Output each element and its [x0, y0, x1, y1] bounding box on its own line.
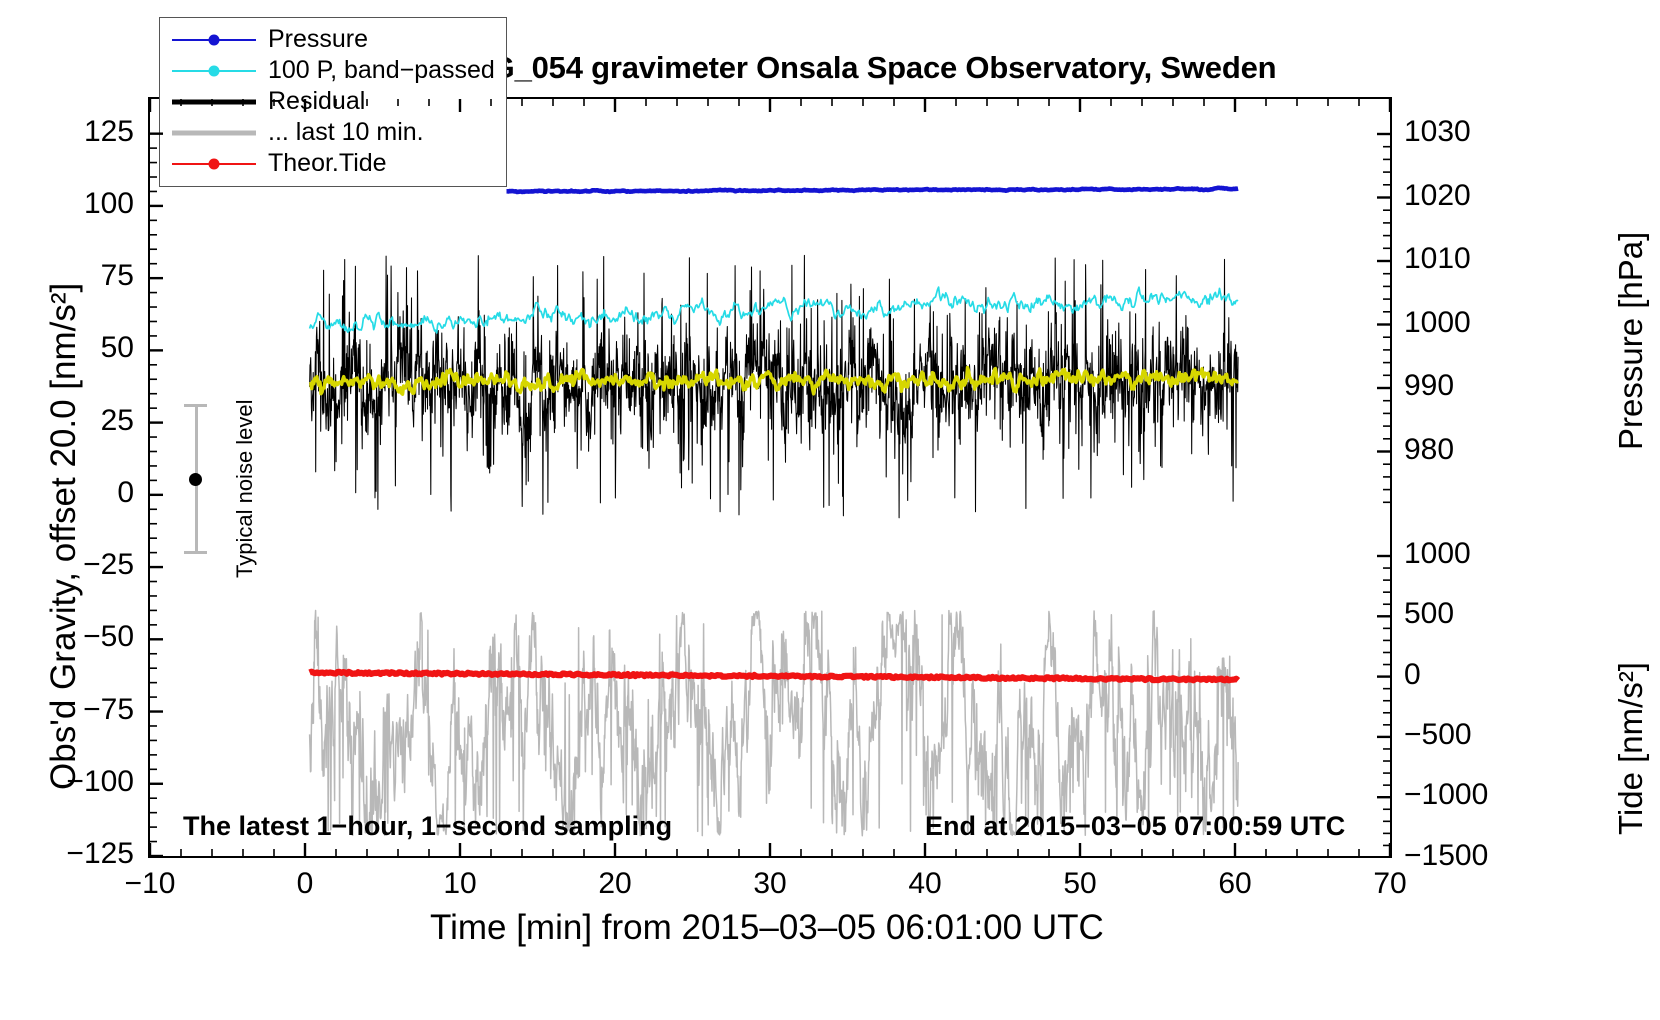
y-axis-title-right-pressure: Pressure [hPa] [1612, 232, 1650, 450]
legend-label-4: Theor.Tide [260, 151, 387, 176]
plot-area [148, 97, 1392, 858]
y-tick-tide-5: −1500 [1404, 839, 1524, 873]
legend-label-2: Residual [260, 89, 365, 114]
x-tick-4: 30 [710, 867, 830, 901]
y-tick-pressure-0: 1030 [1404, 115, 1524, 149]
legend-line-icon [172, 130, 256, 135]
y-tick-tide-0: 1000 [1404, 537, 1524, 571]
legend-line-icon [172, 99, 256, 104]
x-tick-5: 40 [865, 867, 985, 901]
y-tick-tide-1: 500 [1404, 597, 1524, 631]
y-tick-pressure-5: 980 [1404, 433, 1524, 467]
legend-item-4[interactable]: Theor.Tide [168, 148, 498, 179]
x-tick-0: −10 [90, 867, 210, 901]
y-tick-pressure-3: 1000 [1404, 306, 1524, 340]
y-tick-left-0: 125 [14, 115, 134, 149]
series-pressure [507, 188, 1239, 192]
legend-label-0: Pressure [260, 27, 368, 52]
series-last-10-min [310, 611, 1239, 836]
typical-noise-level-label: Typical noise level [232, 399, 258, 578]
y-tick-pressure-2: 1010 [1404, 242, 1524, 276]
legend-swatch-3 [168, 117, 260, 148]
y-axis-title-left: Obs'd Gravity, offset 20.0 [nm/s²] [44, 283, 84, 790]
legend-dot-icon [209, 158, 220, 169]
legend-swatch-1 [168, 55, 260, 86]
legend-swatch-0 [168, 24, 260, 55]
legend-item-2[interactable]: Residual [168, 86, 498, 117]
legend-item-3[interactable]: ... last 10 min. [168, 117, 498, 148]
y-axis-title-right-tide: Tide [nm/s²] [1612, 662, 1650, 835]
legend-item-1[interactable]: 100 P, band−passed [168, 55, 498, 86]
x-tick-1: 0 [245, 867, 365, 901]
footnote-left: The latest 1−hour, 1−second sampling [183, 811, 672, 842]
legend-swatch-4 [168, 148, 260, 179]
y-tick-tide-2: 0 [1404, 658, 1524, 692]
legend-item-0[interactable]: Pressure [168, 24, 498, 55]
x-tick-7: 60 [1175, 867, 1295, 901]
data-layer [150, 99, 1390, 856]
x-tick-3: 20 [555, 867, 675, 901]
legend-dot-icon [209, 65, 220, 76]
noise-cap-bottom [184, 551, 207, 554]
x-axis-title: Time [min] from 2015‒03‒05 06:01:00 UTC [430, 908, 1104, 948]
series-bandpassed-pressure [310, 287, 1239, 333]
series-residual [310, 255, 1239, 517]
x-tick-6: 50 [1020, 867, 1140, 901]
footnote-right: End at 2015−03−05 07:00:59 UTC [925, 811, 1345, 842]
legend-swatch-2 [168, 86, 260, 117]
legend: Pressure100 P, band−passedResidual... la… [159, 17, 507, 187]
legend-label-1: 100 P, band−passed [260, 58, 495, 83]
y-tick-pressure-1: 1020 [1404, 179, 1524, 213]
page-title: SCG_054 gravimeter Onsala Space Observat… [448, 50, 1276, 86]
typical-noise-level-marker [176, 404, 216, 554]
y-tick-tide-4: −1000 [1404, 778, 1524, 812]
y-tick-left-10: −125 [14, 837, 134, 871]
y-tick-pressure-4: 990 [1404, 369, 1524, 403]
gravimeter-chart-page: SCG_054 gravimeter Onsala Space Observat… [0, 0, 1660, 1020]
legend-dot-icon [209, 34, 220, 45]
legend-label-3: ... last 10 min. [260, 120, 424, 145]
y-tick-left-1: 100 [14, 187, 134, 221]
noise-center-dot [189, 473, 202, 486]
x-tick-2: 10 [400, 867, 520, 901]
y-tick-tide-3: −500 [1404, 718, 1524, 752]
